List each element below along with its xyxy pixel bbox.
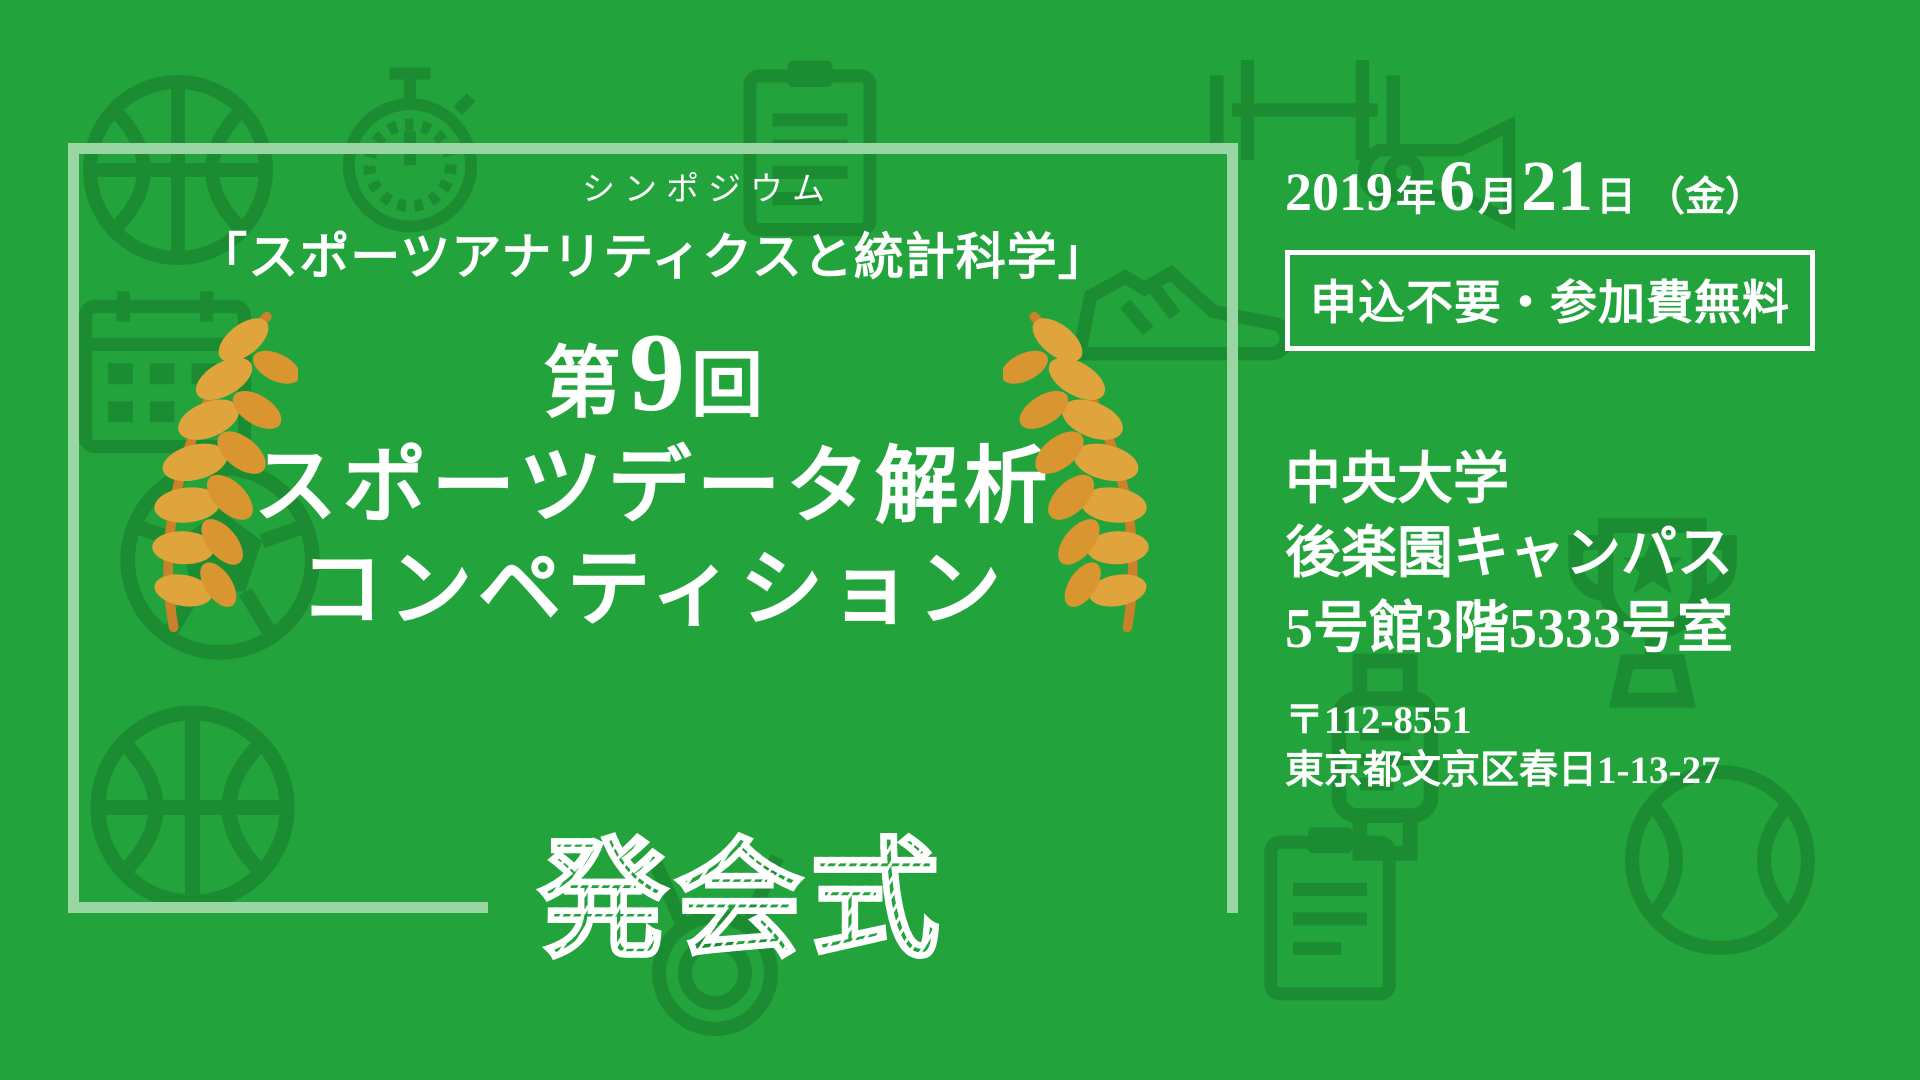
event-date: 2019 年 6 月 21 日 （金） [1285, 150, 1885, 222]
event-title-line-2: コンペティション [253, 538, 1052, 640]
laurel-branch-left-icon [123, 309, 298, 639]
symposium-quoted-title: 「スポーツアナリティクスと統計科学」 [197, 217, 1109, 289]
title-block: 第 9 回 スポーツデータ解析 コンペティション [68, 317, 1238, 640]
date-month: 6 [1439, 150, 1475, 222]
date-year-unit: 年 [1393, 177, 1439, 217]
laurel-branch-right-icon [1003, 309, 1178, 639]
date-day-unit: 日 [1593, 177, 1639, 217]
issue-prefix: 第 [543, 344, 623, 422]
venue-line-3: 5号館3階5333号室 [1285, 592, 1885, 666]
venue-line-1: 中央大学 [1285, 443, 1885, 517]
street-address: 東京都文京区春日1-13-27 [1285, 746, 1885, 796]
symposium-label: シンポジウム [582, 171, 834, 207]
date-year: 2019 [1285, 165, 1393, 219]
venue-line-2: 後楽園キャンパス [1285, 517, 1885, 591]
date-month-unit: 月 [1475, 177, 1521, 217]
issue-suffix: 回 [691, 350, 763, 422]
event-title: スポーツデータ解析 コンペティション [253, 435, 1052, 640]
admission-badge: 申込不要・参加費無料 [1285, 250, 1815, 351]
date-day: 21 [1521, 150, 1593, 222]
issue-number-line: 第 9 回 [543, 317, 763, 429]
event-title-line-1: スポーツデータ解析 [253, 435, 1052, 537]
venue-address: 中央大学 後楽園キャンパス 5号館3階5333号室 [1285, 443, 1885, 666]
postal-code: 〒112-8551 [1285, 696, 1885, 746]
event-details-panel: 2019 年 6 月 21 日 （金） 申込不要・参加費無料 中央大学 後楽園キ… [1285, 150, 1885, 796]
issue-number: 9 [623, 317, 691, 429]
main-announcement-panel: シンポジウム 「スポーツアナリティクスと統計科学」 [68, 143, 1238, 913]
clipboard-icon [1255, 820, 1405, 1005]
kickoff-ceremony-label: 発会式 [538, 835, 946, 965]
date-day-of-week: （金） [1639, 177, 1765, 217]
postal-address: 〒112-8551 東京都文京区春日1-13-27 [1285, 696, 1885, 796]
